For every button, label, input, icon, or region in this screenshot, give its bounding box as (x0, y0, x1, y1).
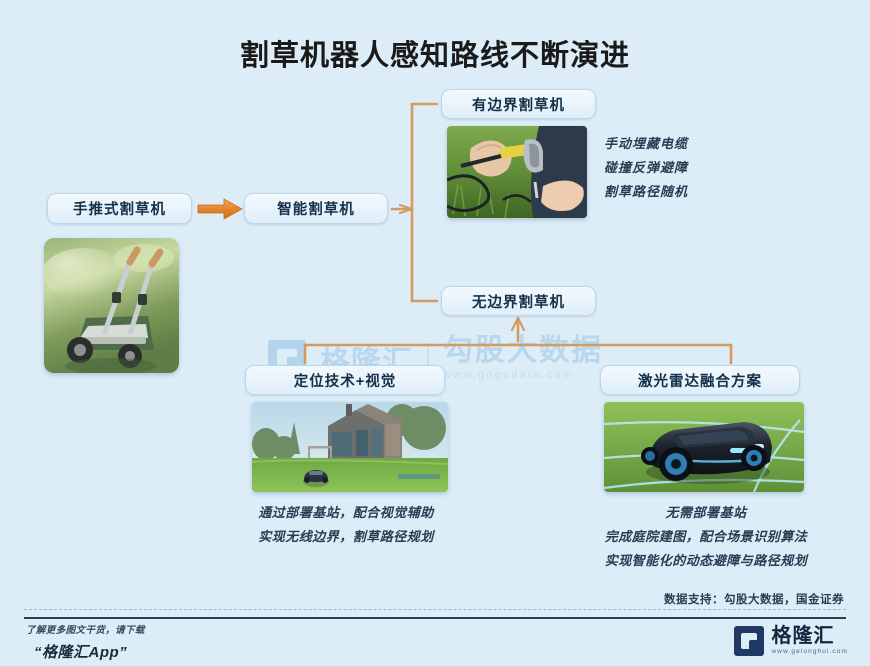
note-bounded-mower: 手动埋藏电缆 碰撞反弹避障 割草路径随机 (604, 133, 688, 205)
node-smart-mower[interactable]: 智能割草机 (244, 193, 388, 224)
note-lidar-line-1: 无需部署基站 (570, 502, 842, 526)
footer-logo[interactable]: 格隆汇 www.gelonghui.com (734, 626, 848, 656)
note-branch-lidar: 无需部署基站 完成庭院建图，配合场景识别算法 实现智能化的动态避障与路径规划 (570, 502, 842, 574)
node-push-mower-label: 手推式割草机 (73, 198, 166, 219)
page-title: 割草机器人感知路线不断演进 (0, 32, 870, 74)
photo-burying-boundary-wire (447, 126, 587, 218)
note-lidar-line-2: 完成庭院建图，配合场景识别算法 (570, 526, 842, 550)
divider-dashed (24, 609, 846, 610)
flow-arrow-icon (196, 197, 244, 221)
footer-promo-line-1: 了解更多图文干货，请下载 (26, 622, 145, 636)
infographic-canvas: 格隆汇 勾股大数据 www.gogudata.com 割草机器人感知路线不断演进 (0, 0, 870, 666)
photo-push-mower (44, 238, 179, 373)
node-branch-lidar[interactable]: 激光雷达融合方案 (600, 365, 800, 395)
footer-logo-url: www.gelonghui.com (771, 649, 848, 656)
note-bounded-line-1: 手动埋藏电缆 (604, 133, 688, 157)
footer-promo: 了解更多图文干货，请下载 “格隆汇App” (26, 622, 145, 662)
footer-logo-name: 格隆汇 (771, 626, 848, 646)
note-lidar-line-3: 实现智能化的动态避障与路径规划 (570, 550, 842, 574)
note-branch-gps: 通过部署基站，配合视觉辅助 实现无线边界，割草路径规划 (236, 502, 456, 550)
note-gps-line-1: 通过部署基站，配合视觉辅助 (236, 502, 456, 526)
node-branch-lidar-label: 激光雷达融合方案 (638, 370, 762, 391)
node-smart-mower-label: 智能割草机 (277, 198, 355, 219)
note-bounded-line-3: 割草路径随机 (604, 181, 688, 205)
footer-promo-line-2: “格隆汇App” (34, 641, 145, 662)
node-push-mower[interactable]: 手推式割草机 (47, 193, 192, 224)
divider-solid (24, 617, 846, 619)
photo-lidar-robot-mower (604, 402, 804, 492)
node-bounded-mower[interactable]: 有边界割草机 (441, 89, 596, 119)
node-boundless-mower[interactable]: 无边界割草机 (441, 286, 596, 316)
node-branch-gps-label: 定位技术+视觉 (294, 370, 396, 391)
photo-garden-house (252, 402, 448, 492)
node-branch-gps-vision[interactable]: 定位技术+视觉 (245, 365, 445, 395)
gelonghui-logo-icon (734, 626, 764, 656)
note-bounded-line-2: 碰撞反弹避障 (604, 157, 688, 181)
note-gps-line-2: 实现无线边界，割草路径规划 (236, 526, 456, 550)
data-source-label: 数据支持：勾股大数据，国金证券 (664, 591, 844, 607)
node-bounded-mower-label: 有边界割草机 (472, 94, 565, 115)
node-boundless-mower-label: 无边界割草机 (472, 291, 565, 312)
